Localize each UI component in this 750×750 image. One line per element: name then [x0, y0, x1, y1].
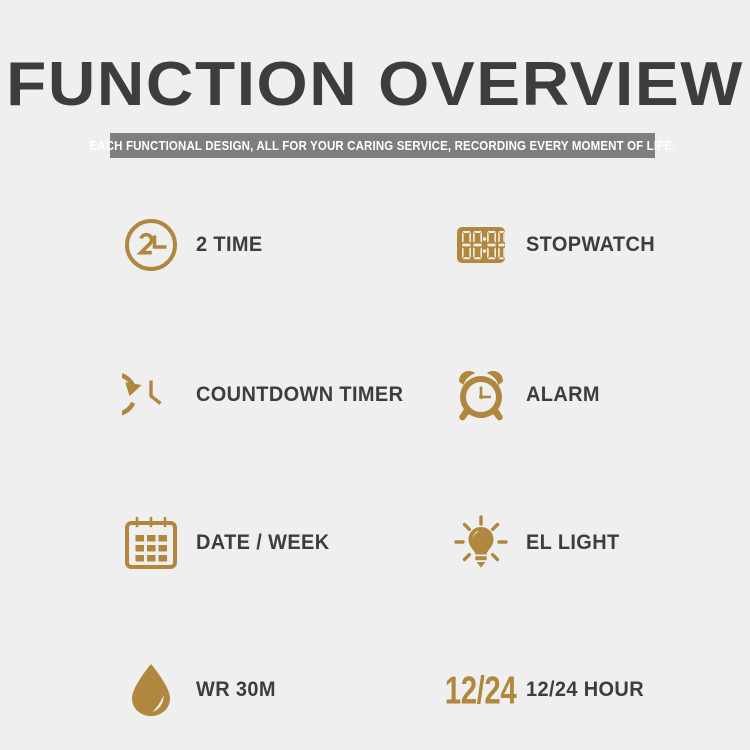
feature-item-countdown-timer[interactable]: COUNTDOWN TIMER [0, 340, 375, 450]
feature-label: EL LIGHT [526, 531, 620, 555]
page-title: FUNCTION OVERVIEW [0, 52, 750, 118]
header: FUNCTION OVERVIEW [0, 52, 750, 118]
feature-item-alarm[interactable]: ALARM [375, 340, 750, 450]
feature-label: WR 30M [196, 678, 276, 702]
feature-label: COUNTDOWN TIMER [196, 383, 403, 407]
feature-row: WR 30M 12/24 12/24 HOUR [0, 635, 750, 745]
feature-item-stopwatch[interactable]: STOPWATCH [375, 190, 750, 300]
subtitle-banner: EACH FUNCTIONAL DESIGN, ALL FOR YOUR CAR… [110, 133, 655, 158]
feature-item-water-resistance[interactable]: WR 30M [0, 635, 375, 745]
feature-item-el-light[interactable]: EL LIGHT [375, 488, 750, 598]
feature-item-2-time[interactable]: 2 TIME [0, 190, 375, 300]
twelve-twentyfour-text-icon: 12/24 [452, 661, 510, 719]
feature-grid: 2 TIME [0, 190, 750, 745]
feature-label: 12/24 HOUR [526, 678, 644, 702]
lightbulb-icon [452, 514, 510, 572]
subtitle-text: EACH FUNCTIONAL DESIGN, ALL FOR YOUR CAR… [90, 139, 676, 153]
feature-label: 2 TIME [196, 233, 263, 257]
feature-item-12-24-hour[interactable]: 12/24 12/24 HOUR [375, 635, 750, 745]
alarm-clock-icon [452, 366, 510, 424]
feature-row: COUNTDOWN TIMER [0, 340, 750, 450]
feature-label: STOPWATCH [526, 233, 655, 257]
feature-label: DATE / WEEK [196, 531, 329, 555]
twelve-twentyfour-icon-text: 12/24 [445, 670, 516, 709]
function-overview-page: FUNCTION OVERVIEW EACH FUNCTIONAL DESIGN… [0, 0, 750, 750]
stopwatch-digital-display-icon [452, 216, 510, 274]
water-drop-icon [122, 661, 180, 719]
calendar-icon [122, 514, 180, 572]
feature-item-date-week[interactable]: DATE / WEEK [0, 488, 375, 598]
feature-row: 2 TIME [0, 190, 750, 300]
countdown-timer-icon [122, 366, 180, 424]
feature-label: ALARM [526, 383, 600, 407]
feature-row: DATE / WEEK [0, 488, 750, 598]
two-time-clock-icon [122, 216, 180, 274]
